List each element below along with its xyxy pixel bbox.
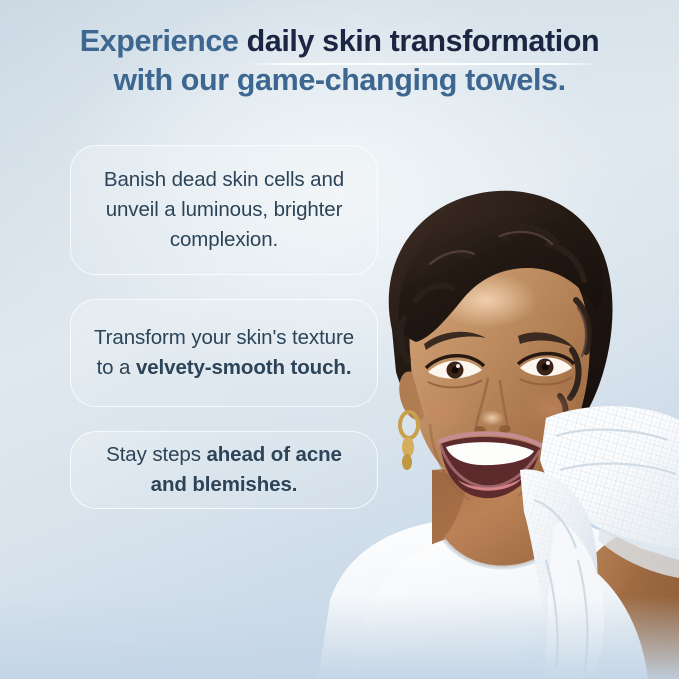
hair-front: [399, 205, 604, 342]
benefit-card-1-text: Banish dead skin cells and unveil a lumi…: [87, 165, 361, 255]
gold-hoop-earring: [400, 412, 418, 470]
eye-right: [518, 354, 574, 385]
eye-left: [426, 356, 484, 388]
nostril-left: [474, 426, 486, 434]
benefit-card-3-segment-1: Stay steps: [106, 443, 206, 466]
headline-word-experience: Experience: [80, 24, 239, 58]
eyebrow-right: [518, 332, 574, 348]
benefit-card-3-text: Stay steps ahead of acne and blemishes.: [87, 440, 361, 500]
right-arm: [555, 517, 679, 679]
nose: [476, 378, 508, 433]
eyebrow-left: [424, 332, 486, 350]
white-top: [318, 512, 672, 679]
headline-line-2: with our game-changing towels.: [0, 61, 679, 100]
top-neckline: [352, 540, 648, 679]
smile-line-right: [518, 420, 556, 496]
hair-back: [389, 191, 613, 465]
hair-curls: [401, 226, 589, 436]
benefit-card-1-segment-1: Banish dead skin cells and unveil a lumi…: [104, 168, 344, 251]
benefit-card-2[interactable]: Transform your skin's texture to a velve…: [70, 299, 378, 407]
face: [410, 242, 590, 492]
neckline-seam: [444, 540, 556, 568]
cheek-right: [526, 388, 578, 428]
benefit-card-2-text: Transform your skin's texture to a velve…: [87, 323, 361, 383]
forehead-highlight: [434, 272, 538, 328]
ad-banner: Experience daily skin transformation wit…: [0, 0, 679, 679]
nose-highlight: [480, 410, 504, 426]
benefit-card-3[interactable]: Stay steps ahead of acne and blemishes.: [70, 431, 378, 509]
neck: [432, 460, 560, 604]
nostril-right: [499, 425, 511, 433]
mouth: [438, 433, 542, 498]
ear: [399, 371, 424, 420]
benefit-card-1[interactable]: Banish dead skin cells and unveil a lumi…: [70, 145, 378, 275]
collarbone: [410, 566, 546, 592]
headline-line-1: Experience daily skin transformation: [0, 22, 679, 61]
benefit-card-list: Banish dead skin cells and unveil a lumi…: [70, 145, 378, 509]
hair-curl-highlights: [430, 232, 586, 356]
bottom-fade: [0, 596, 679, 679]
neck-shadow: [432, 470, 468, 548]
headline-emphasis-underlined: daily skin transformation: [247, 22, 600, 61]
benefit-card-2-segment-2-emphasis: velvety-smooth touch.: [136, 356, 351, 379]
white-towel: [520, 406, 679, 679]
arm-shadow: [602, 545, 679, 679]
smile-line-left: [430, 424, 470, 500]
cheek-left: [414, 392, 466, 432]
headline: Experience daily skin transformation wit…: [0, 22, 679, 100]
